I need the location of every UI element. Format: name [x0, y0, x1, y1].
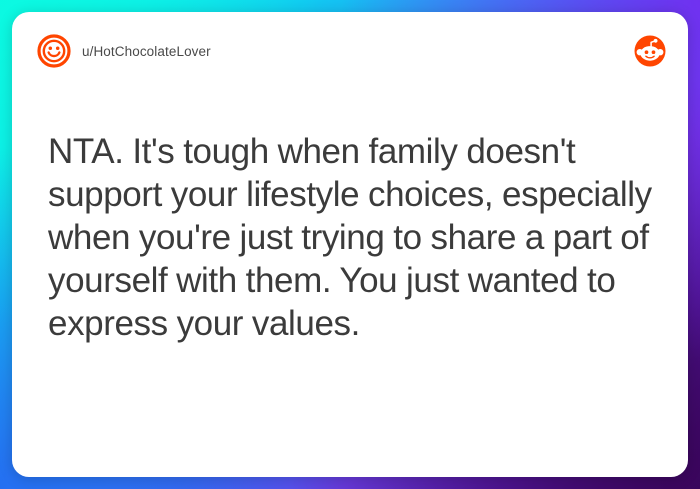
author-block[interactable]: u/HotChocolateLover — [37, 34, 634, 68]
card-body: NTA. It's tough when family doesn't supp… — [12, 130, 688, 477]
card-header: u/HotChocolateLover — [12, 12, 688, 90]
screenshot-stage: u/HotChocolateLover — [0, 0, 700, 489]
comment-text: NTA. It's tough when family doesn't supp… — [48, 130, 666, 345]
author-username: u/HotChocolateLover — [82, 44, 211, 59]
reddit-comment-card: u/HotChocolateLover — [12, 12, 688, 477]
reddit-snoo-logo-icon[interactable] — [634, 35, 666, 67]
smiley-face-avatar-icon — [37, 34, 71, 68]
